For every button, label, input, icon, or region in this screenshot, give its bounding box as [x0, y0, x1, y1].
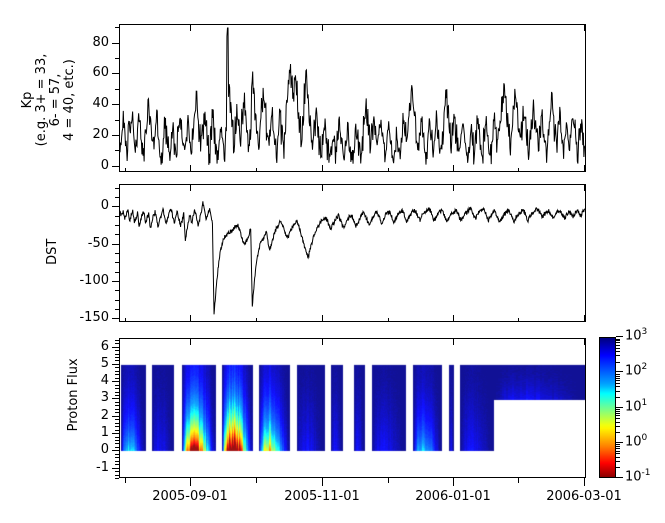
tick-mark — [453, 165, 454, 172]
x-tick-label: 2006-03-01 — [536, 489, 632, 504]
flux-ytick-label: 3 — [75, 390, 109, 405]
tick-mark — [616, 422, 620, 423]
tick-mark — [388, 478, 389, 483]
tick-mark — [115, 374, 119, 375]
tick-mark — [115, 478, 119, 479]
tick-mark — [115, 430, 119, 431]
colorbar-tick-label: 101 — [625, 398, 647, 414]
tick-mark — [125, 318, 126, 322]
tick-mark — [115, 371, 119, 372]
tick-mark — [115, 318, 119, 319]
kp-series-line — [120, 28, 585, 165]
tick-mark — [115, 206, 119, 207]
flux-ytick-label: 6 — [75, 339, 109, 354]
tick-mark — [190, 24, 191, 31]
tick-mark — [115, 409, 119, 410]
tick-mark — [115, 225, 119, 226]
tick-mark — [616, 342, 620, 343]
tick-mark — [190, 338, 191, 345]
tick-mark — [115, 433, 119, 434]
tick-mark — [453, 24, 454, 31]
tick-mark — [115, 398, 119, 399]
x-tick-label: 2006-01-01 — [405, 489, 501, 504]
tick-mark — [322, 338, 323, 345]
tick-mark — [115, 378, 119, 379]
tick-mark — [115, 357, 119, 358]
tick-mark — [616, 345, 620, 346]
tick-mark — [616, 351, 620, 352]
tick-mark — [616, 448, 620, 449]
tick-mark — [115, 188, 119, 189]
colorbar-tick-exponent: -1 — [642, 468, 651, 478]
tick-mark — [115, 381, 119, 382]
tick-mark — [616, 415, 620, 416]
dst-ytick-label: -100 — [69, 273, 109, 288]
tick-mark — [584, 478, 585, 486]
colorbar — [599, 337, 616, 478]
tick-mark — [616, 426, 620, 427]
tick-mark — [616, 391, 620, 392]
tick-mark — [616, 411, 620, 412]
tick-mark — [115, 360, 119, 361]
tick-mark — [115, 343, 119, 344]
tick-mark — [584, 338, 585, 345]
tick-mark — [616, 477, 623, 478]
kp-ytick-label: 0 — [73, 158, 109, 173]
tick-mark — [115, 405, 119, 406]
colorbar-tick-label: 103 — [625, 327, 647, 343]
tick-mark — [616, 461, 620, 462]
kp-plot-line — [120, 25, 585, 171]
tick-mark — [616, 409, 620, 410]
dst-axis-label-text: DST — [45, 239, 60, 265]
tick-mark — [115, 27, 119, 28]
dst-ytick-label: -150 — [69, 310, 109, 325]
tick-mark — [616, 371, 623, 372]
tick-mark — [115, 447, 119, 448]
tick-mark — [322, 24, 323, 31]
tick-mark — [616, 362, 620, 363]
tick-mark — [115, 350, 119, 351]
tick-mark — [115, 385, 119, 386]
tick-mark — [125, 168, 126, 172]
tick-mark — [616, 397, 620, 398]
kp-ytick-label: 20 — [73, 127, 109, 142]
tick-mark — [616, 348, 620, 349]
colorbar-tick-exponent: 3 — [642, 327, 648, 337]
figure-root: Kp (e.g. 3+ = 33, 6- = 57, 4 = 40, etc.)… — [0, 0, 665, 523]
dst-axis-label: DST — [46, 222, 60, 282]
tick-mark — [112, 104, 119, 105]
x-tick-label: 2005-11-01 — [274, 489, 370, 504]
tick-mark — [115, 450, 119, 451]
tick-mark — [616, 444, 620, 445]
kp-ytick-label: 60 — [73, 65, 109, 80]
colorbar-tick-exponent: 1 — [642, 398, 648, 408]
tick-mark — [115, 454, 119, 455]
tick-mark — [115, 309, 119, 310]
colorbar-tick-label: 100 — [625, 433, 647, 449]
tick-mark — [616, 355, 620, 356]
flux-ytick-label: 2 — [75, 408, 109, 423]
colorbar-tick-base: 10 — [625, 469, 642, 484]
tick-mark — [115, 150, 119, 151]
tick-mark — [322, 165, 323, 172]
dst-series-line — [120, 201, 585, 314]
tick-mark — [115, 364, 119, 365]
tick-mark — [115, 475, 119, 476]
colorbar-tick-label: 10-1 — [625, 468, 651, 484]
colorbar-tick-base: 10 — [625, 399, 642, 414]
tick-mark — [584, 24, 585, 31]
tick-mark — [584, 184, 585, 191]
tick-mark — [115, 416, 119, 417]
tick-mark — [190, 184, 191, 191]
tick-mark — [115, 388, 119, 389]
colorbar-tick-base: 10 — [625, 434, 642, 449]
kp-ytick-label: 80 — [73, 35, 109, 50]
tick-mark — [616, 418, 620, 419]
colorbar-tick-base: 10 — [625, 328, 642, 343]
tick-mark — [112, 43, 119, 44]
tick-mark — [616, 386, 620, 387]
tick-mark — [115, 253, 119, 254]
tick-mark — [115, 262, 119, 263]
tick-mark — [616, 383, 620, 384]
tick-mark — [115, 216, 119, 217]
tick-mark — [388, 318, 389, 322]
tick-mark — [115, 281, 119, 282]
dst-panel — [119, 184, 586, 322]
tick-mark — [518, 478, 519, 483]
tick-mark — [115, 419, 119, 420]
tick-mark — [115, 461, 119, 462]
tick-mark — [115, 340, 119, 341]
tick-mark — [112, 166, 119, 167]
dst-ytick-label: 0 — [69, 198, 109, 213]
flux-ytick-label: 4 — [75, 373, 109, 388]
tick-mark — [584, 315, 585, 322]
tick-mark — [190, 478, 191, 486]
tick-mark — [115, 120, 119, 121]
tick-mark — [616, 378, 620, 379]
kp-axis-label-note2: 6- = 57, — [48, 74, 63, 127]
kp-axis-label-main: Kp — [20, 92, 35, 109]
tick-mark — [616, 374, 620, 375]
tick-mark — [115, 300, 119, 301]
tick-mark — [616, 380, 620, 381]
tick-mark — [115, 89, 119, 90]
tick-mark — [453, 478, 454, 486]
tick-mark — [616, 451, 620, 452]
kp-panel — [119, 24, 586, 172]
dst-plot-line — [120, 185, 585, 321]
tick-mark — [322, 478, 323, 486]
flux-ytick-label: 0 — [75, 442, 109, 457]
tick-mark — [112, 73, 119, 74]
colorbar-tick-base: 10 — [625, 363, 642, 378]
tick-mark — [616, 376, 620, 377]
tick-mark — [115, 367, 119, 368]
tick-mark — [115, 354, 119, 355]
tick-mark — [115, 468, 119, 469]
tick-mark — [115, 395, 119, 396]
tick-mark — [256, 318, 257, 322]
tick-mark — [190, 315, 191, 322]
tick-mark — [115, 402, 119, 403]
tick-mark — [388, 168, 389, 172]
tick-mark — [115, 58, 119, 59]
tick-mark — [115, 437, 119, 438]
tick-mark — [115, 234, 119, 235]
tick-mark — [115, 426, 119, 427]
flux-ytick-label: -1 — [75, 460, 109, 475]
tick-mark — [125, 478, 126, 483]
tick-mark — [616, 336, 623, 337]
tick-mark — [112, 135, 119, 136]
flux-ytick-label: 1 — [75, 425, 109, 440]
tick-mark — [190, 165, 191, 172]
tick-mark — [616, 413, 620, 414]
tick-mark — [115, 443, 119, 444]
tick-mark — [115, 272, 119, 273]
proton-flux-panel — [119, 338, 586, 478]
tick-mark — [616, 457, 620, 458]
colorbar-gradient — [600, 338, 615, 477]
tick-mark — [115, 392, 119, 393]
tick-mark — [115, 197, 119, 198]
tick-mark — [256, 478, 257, 483]
tick-mark — [616, 339, 620, 340]
proton-flux-spectrogram — [120, 339, 586, 478]
tick-mark — [518, 168, 519, 172]
colorbar-tick-exponent: 2 — [642, 362, 648, 372]
kp-ytick-label: 40 — [73, 96, 109, 111]
tick-mark — [616, 453, 620, 454]
tick-mark — [322, 315, 323, 322]
colorbar-tick-label: 102 — [625, 362, 647, 378]
tick-mark — [115, 290, 119, 291]
kp-axis-label-note1: (e.g. 3+ = 33, — [34, 54, 49, 147]
tick-mark — [115, 347, 119, 348]
tick-mark — [115, 412, 119, 413]
tick-mark — [115, 440, 119, 441]
tick-mark — [115, 464, 119, 465]
tick-mark — [256, 168, 257, 172]
flux-ytick-label: 5 — [75, 356, 109, 371]
tick-mark — [584, 165, 585, 172]
kp-axis-label: Kp (e.g. 3+ = 33, 6- = 57, 4 = 40, etc.) — [21, 25, 77, 175]
tick-mark — [616, 340, 620, 341]
dst-ytick-label: -50 — [69, 236, 109, 251]
tick-mark — [115, 457, 119, 458]
tick-mark — [453, 338, 454, 345]
tick-mark — [322, 184, 323, 191]
tick-mark — [616, 446, 620, 447]
tick-mark — [115, 471, 119, 472]
colorbar-tick-exponent: 0 — [642, 433, 648, 443]
tick-mark — [115, 244, 119, 245]
tick-mark — [616, 467, 620, 468]
tick-mark — [453, 184, 454, 191]
tick-mark — [518, 318, 519, 322]
x-tick-label: 2005-09-01 — [142, 489, 238, 504]
tick-mark — [453, 315, 454, 322]
tick-mark — [115, 423, 119, 424]
tick-mark — [616, 432, 620, 433]
